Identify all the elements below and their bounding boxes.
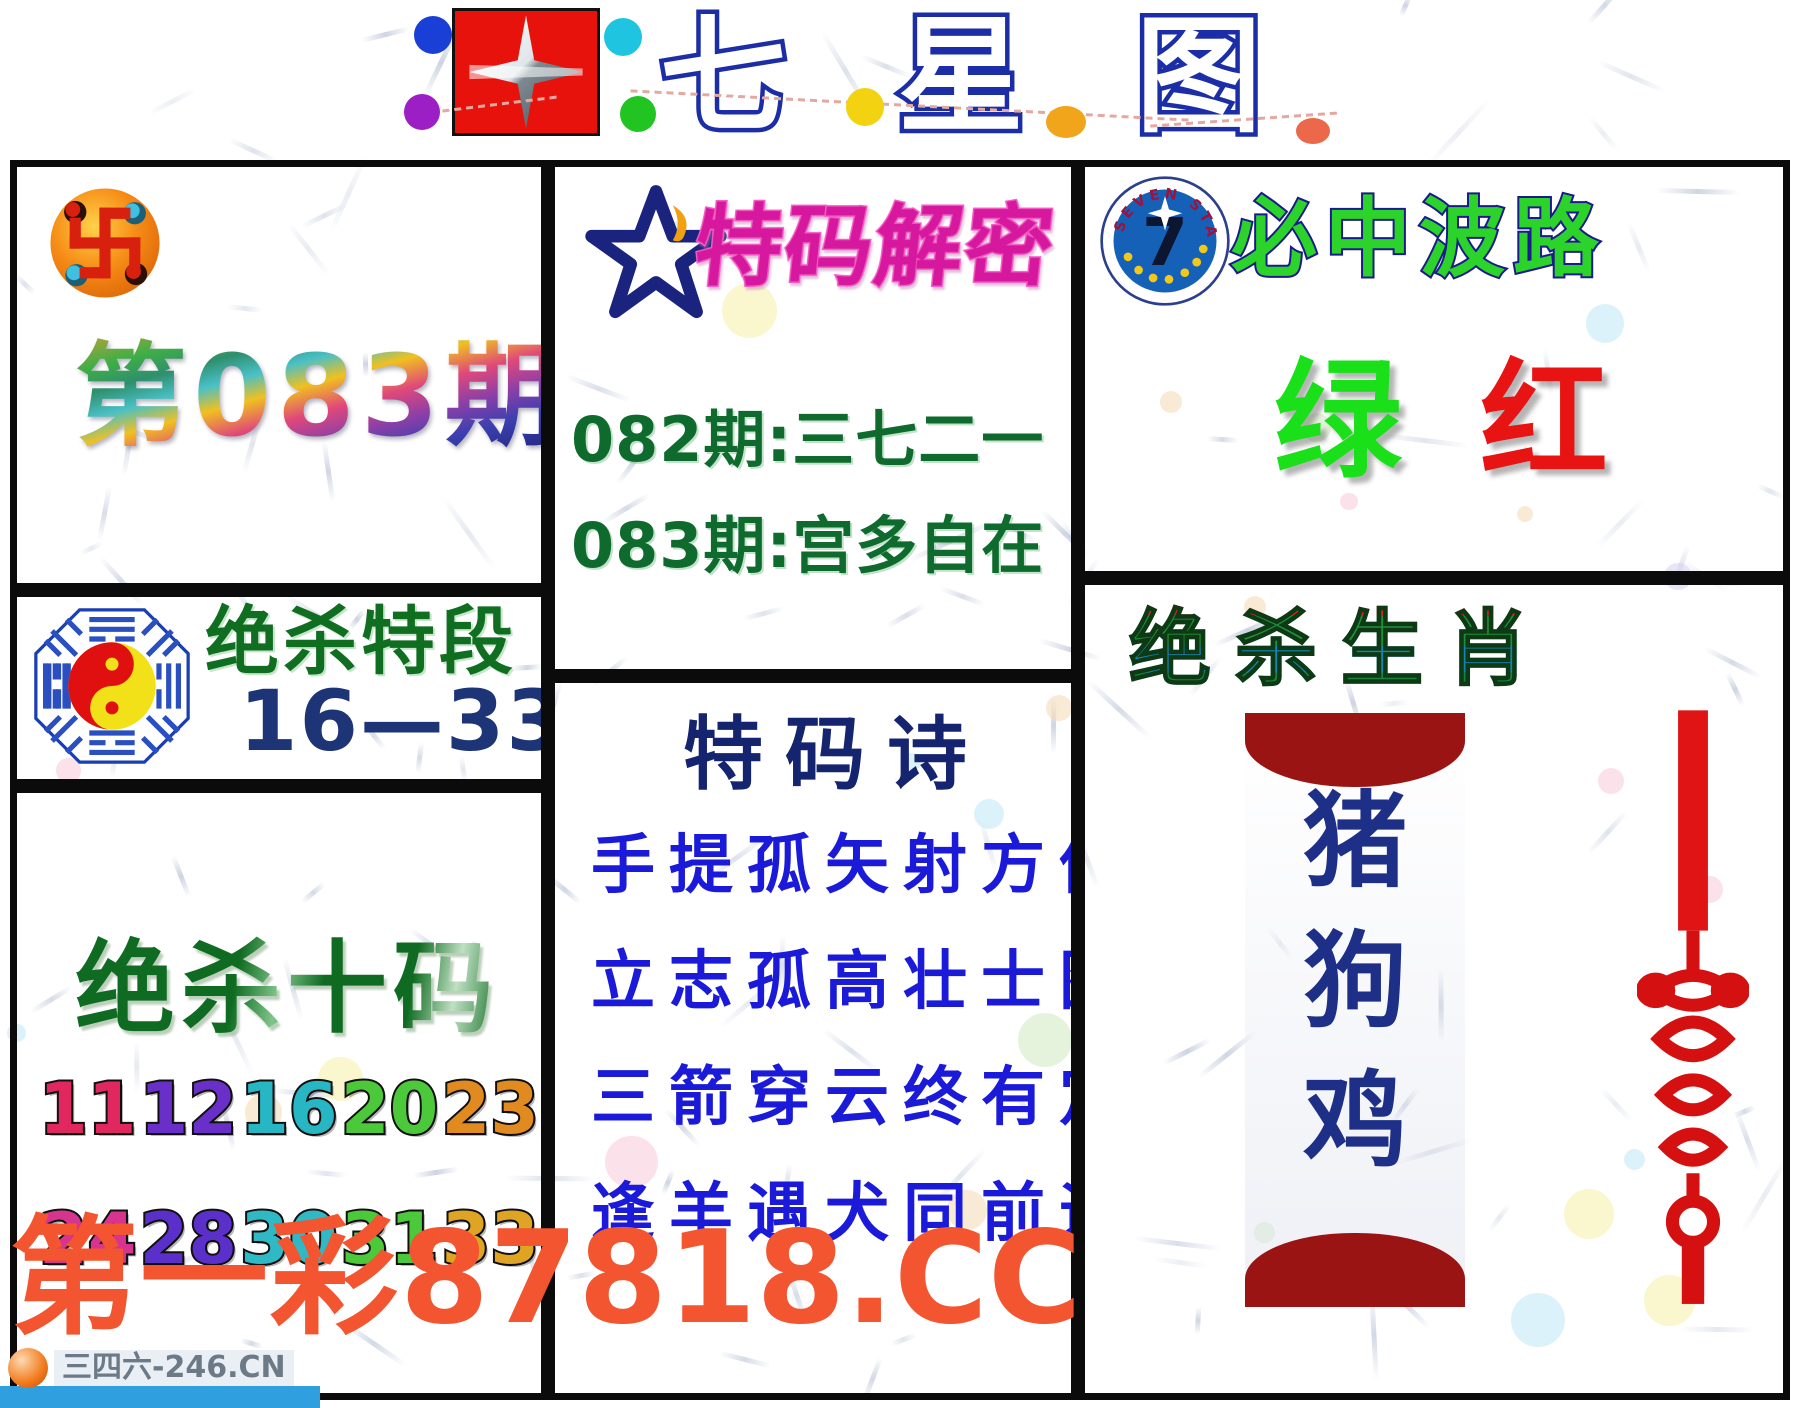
- poster-header: 七 星 图: [0, 0, 1800, 158]
- panel-period: 第083期: [10, 160, 548, 590]
- shima-number: 16: [240, 1069, 337, 1149]
- panel-jiemi: 特码解密 082期:三七二一 083期:宫多自在: [548, 160, 1078, 676]
- shima-number: 23: [442, 1069, 539, 1149]
- header-dot-yellow: [846, 88, 884, 126]
- shima-number: 30: [240, 1199, 337, 1279]
- seven-stars-badge-icon: SEVEN STARS 7: [1099, 175, 1231, 307]
- shi-line: 三箭穿云终有定: [591, 1061, 1078, 1135]
- panel-shengxiao: 绝杀生肖 猪 狗 鸡: [1078, 578, 1790, 1400]
- page-title: 七 星 图: [660, 2, 1296, 152]
- panel-bolu: SEVEN STARS 7 必中波路 绿红: [1078, 160, 1790, 578]
- poster-page: 七 星 图: [0, 0, 1800, 1408]
- shengxiao-animal: 鸡: [1245, 1065, 1465, 1177]
- bolu-title: 必中波路: [1231, 191, 1607, 287]
- period-label: 第083期: [75, 337, 548, 457]
- header-dot-green: [620, 96, 656, 132]
- duan-title: 绝杀特段: [205, 601, 517, 683]
- header-dot-red: [1296, 118, 1330, 144]
- duan-range: 16—33: [239, 675, 548, 767]
- bagua-yinyang-icon: [31, 605, 193, 767]
- shima-number: 24: [39, 1199, 136, 1279]
- jiemi-title: 特码解密: [690, 199, 1060, 295]
- red-star-logo-icon: [452, 8, 600, 136]
- panel-shi: 特码诗 手提孤矢射方偶 立志孤高壮士图 三箭穿云终有定 逢羊遇犬同前途: [548, 676, 1078, 1400]
- shima-number: 31: [341, 1199, 438, 1279]
- shima-number: 11: [39, 1069, 136, 1149]
- header-dot-blue: [414, 16, 452, 54]
- shima-number: 28: [140, 1199, 237, 1279]
- jiemi-line: 082期:三七二一: [571, 405, 1044, 475]
- shi-line: 手提孤矢射方偶: [591, 829, 1078, 903]
- shima-title: 绝杀十码: [75, 933, 499, 1045]
- shima-number: 33: [442, 1199, 539, 1279]
- poster-grid: 第083期: [10, 160, 1790, 1400]
- panel-duan: 绝杀特段 16—33: [10, 590, 548, 786]
- bolu-color-label: 红: [1480, 347, 1608, 497]
- header-dot-orange: [1046, 106, 1086, 138]
- shi-line: 立志孤高壮士图: [591, 945, 1078, 1019]
- shengxiao-title: 绝杀生肖: [1129, 603, 1553, 697]
- header-dot-purple: [404, 94, 440, 130]
- shima-number: 20: [341, 1069, 438, 1149]
- watermark-blue-bar: [0, 1386, 320, 1408]
- shima-number-row: 2428303133: [39, 1199, 539, 1279]
- jiemi-line: 083期:宫多自在: [571, 511, 1044, 581]
- header-dot-cyan: [604, 18, 642, 56]
- bolu-color-label: 绿: [1274, 347, 1402, 497]
- shima-number-row: 1112162023: [39, 1069, 539, 1149]
- shengxiao-animal: 猪: [1245, 785, 1465, 897]
- panel-shima: 绝杀十码 1112162023 2428303133: [10, 786, 548, 1400]
- bolu-colors: 绿红: [1085, 347, 1790, 497]
- shima-number: 12: [140, 1069, 237, 1149]
- shengxiao-animal: 狗: [1245, 925, 1465, 1037]
- shi-line: 逢羊遇犬同前途: [591, 1177, 1078, 1251]
- chinese-knot-icon: [1637, 709, 1749, 1309]
- swastika-orb-icon: [39, 181, 171, 305]
- shi-title: 特码诗: [683, 709, 989, 799]
